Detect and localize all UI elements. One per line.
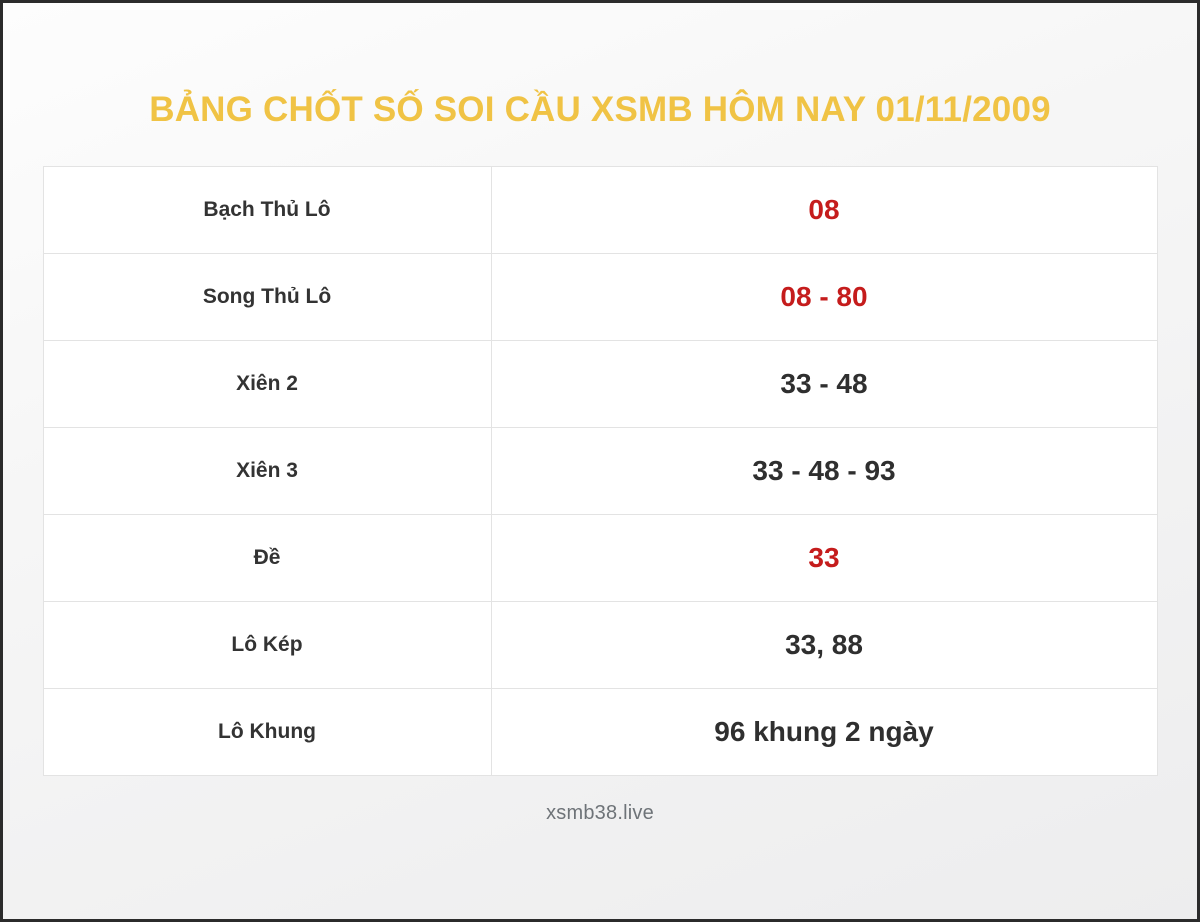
table-row: Xiên 3 33 - 48 - 93: [43, 428, 1158, 515]
row-value: 33 - 48 - 93: [492, 428, 1158, 515]
row-value: 08: [492, 166, 1158, 254]
row-label: Bạch Thủ Lô: [43, 166, 492, 254]
row-value: 33 - 48: [492, 341, 1158, 428]
row-value: 08 - 80: [492, 254, 1158, 341]
row-label: Lô Khung: [43, 689, 492, 776]
table-row: Đề 33: [43, 515, 1158, 602]
row-value: 96 khung 2 ngày: [492, 689, 1158, 776]
site-watermark: xsmb38.live: [546, 802, 654, 825]
table-row: Lô Kép 33, 88: [43, 602, 1158, 689]
row-label: Xiên 3: [43, 428, 492, 515]
row-label: Song Thủ Lô: [43, 254, 492, 341]
row-label: Lô Kép: [43, 602, 492, 689]
table-row: Bạch Thủ Lô 08: [43, 166, 1158, 254]
table-row: Song Thủ Lô 08 - 80: [43, 254, 1158, 341]
row-value: 33, 88: [492, 602, 1158, 689]
row-label: Đề: [43, 515, 492, 602]
row-label: Xiên 2: [43, 341, 492, 428]
table-row: Lô Khung 96 khung 2 ngày: [43, 689, 1158, 776]
table-row: Xiên 2 33 - 48: [43, 341, 1158, 428]
prediction-table-body: Bạch Thủ Lô 08 Song Thủ Lô 08 - 80 Xiên …: [43, 166, 1158, 776]
page-container: BẢNG CHỐT SỐ SOI CẦU XSMB HÔM NAY 01/11/…: [3, 3, 1197, 919]
row-value: 33: [492, 515, 1158, 602]
page-title: BẢNG CHỐT SỐ SOI CẦU XSMB HÔM NAY 01/11/…: [149, 91, 1051, 130]
prediction-table: Bạch Thủ Lô 08 Song Thủ Lô 08 - 80 Xiên …: [43, 166, 1158, 776]
